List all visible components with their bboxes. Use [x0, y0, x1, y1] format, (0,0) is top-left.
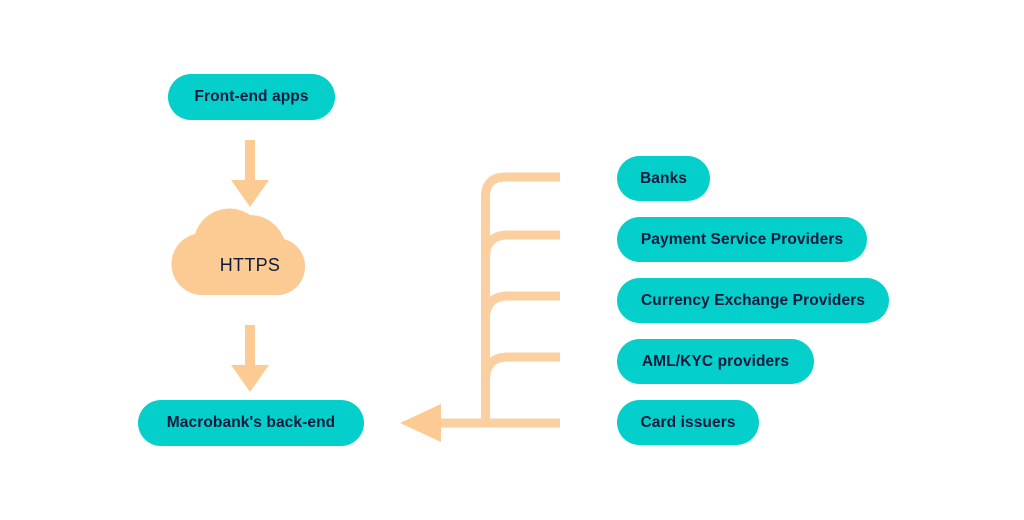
- node-provider-banks[interactable]: Banks: [617, 156, 710, 201]
- node-provider-aml-kyc-providers[interactable]: AML/KYC providers: [617, 339, 814, 384]
- node-provider-aml-kyc-providers-label: AML/KYC providers: [642, 353, 789, 371]
- node-provider-banks-label: Banks: [640, 170, 687, 188]
- node-macrobank-backend[interactable]: Macrobank's back-end: [138, 400, 364, 446]
- node-macrobank-backend-label: Macrobank's back-end: [167, 414, 336, 432]
- provider-bus-connector: [440, 177, 560, 423]
- node-https-cloud: HTTPS: [200, 248, 300, 282]
- node-provider-currency-exchange-providers[interactable]: Currency Exchange Providers: [617, 278, 889, 323]
- arrow-cloud-to-backend-icon: [231, 325, 269, 392]
- arrow-bus-to-backend-icon: [400, 404, 441, 442]
- arrow-frontend-to-cloud-icon: [231, 140, 269, 207]
- node-provider-payment-service-providers-label: Payment Service Providers: [641, 231, 843, 249]
- node-provider-card-issuers[interactable]: Card issuers: [617, 400, 759, 445]
- node-provider-payment-service-providers[interactable]: Payment Service Providers: [617, 217, 867, 262]
- node-frontend-apps[interactable]: Front-end apps: [168, 74, 335, 120]
- node-provider-currency-exchange-providers-label: Currency Exchange Providers: [641, 292, 865, 310]
- node-frontend-apps-label: Front-end apps: [194, 88, 308, 106]
- node-https-cloud-label: HTTPS: [220, 255, 281, 276]
- architecture-diagram: Front-end apps HTTPS Macrobank's back-en…: [0, 0, 1024, 520]
- node-provider-card-issuers-label: Card issuers: [640, 414, 735, 432]
